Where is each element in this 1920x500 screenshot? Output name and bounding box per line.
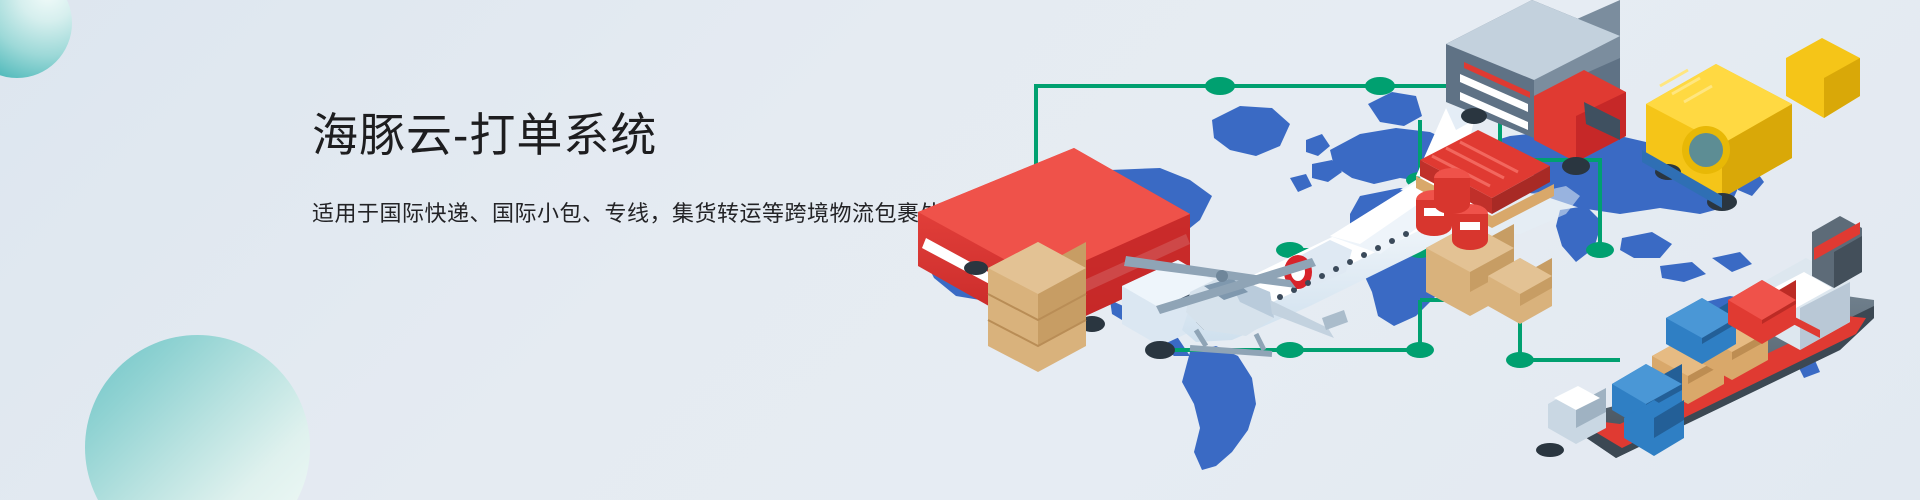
decorative-circle-top-left: [0, 0, 72, 78]
hero-banner: 海豚云-打单系统 适用于国际快递、国际小包、专线，集货转运等跨境物流包裹处理: [0, 0, 1920, 500]
cardboard-boxes: [1426, 224, 1552, 324]
network-node: [1365, 77, 1395, 95]
logistics-illustration: [860, 0, 1920, 500]
decorative-circle-bottom-left: [85, 335, 310, 500]
network-node: [1586, 242, 1614, 258]
network-node: [1276, 342, 1304, 358]
cardboard-boxes: [988, 242, 1086, 372]
network-node: [1205, 77, 1235, 95]
network-node: [1406, 342, 1434, 358]
network-node: [1506, 352, 1534, 368]
